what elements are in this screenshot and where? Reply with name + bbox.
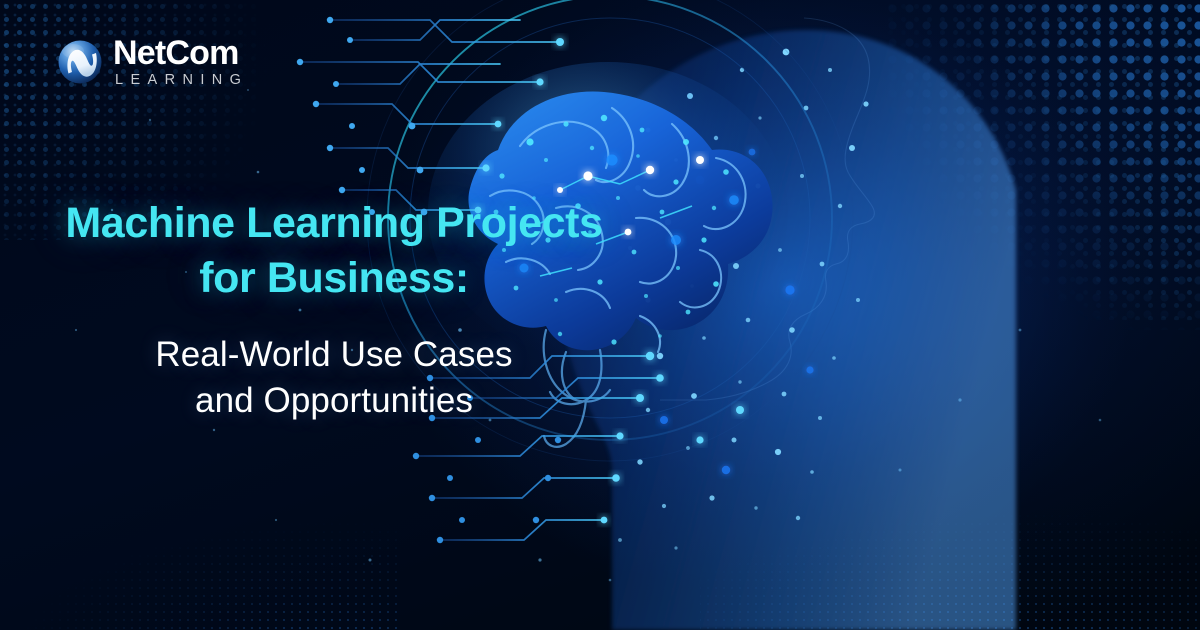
page-title: Machine Learning Projects for Business: <box>34 196 634 306</box>
page-subtitle: Real-World Use Cases and Opportunities <box>34 332 634 424</box>
subhead-line-2: and Opportunities <box>34 378 634 424</box>
netcom-learning-logo[interactable]: NetCom LEARNING <box>56 36 248 88</box>
social-share-banner: NetCom LEARNING Machine Learning Project… <box>0 0 1200 630</box>
hero-text-block: Machine Learning Projects for Business: … <box>34 196 634 424</box>
subhead-line-1: Real-World Use Cases <box>34 332 634 378</box>
headline-line-2: for Business: <box>34 251 634 306</box>
logo-brand-name: NetCom <box>113 36 248 70</box>
netcom-sphere-logo-icon <box>56 38 104 86</box>
headline-line-1: Machine Learning Projects <box>34 196 634 251</box>
logo-brand-tagline: LEARNING <box>115 73 248 88</box>
particle-dot-field-bottom-left <box>0 480 400 630</box>
